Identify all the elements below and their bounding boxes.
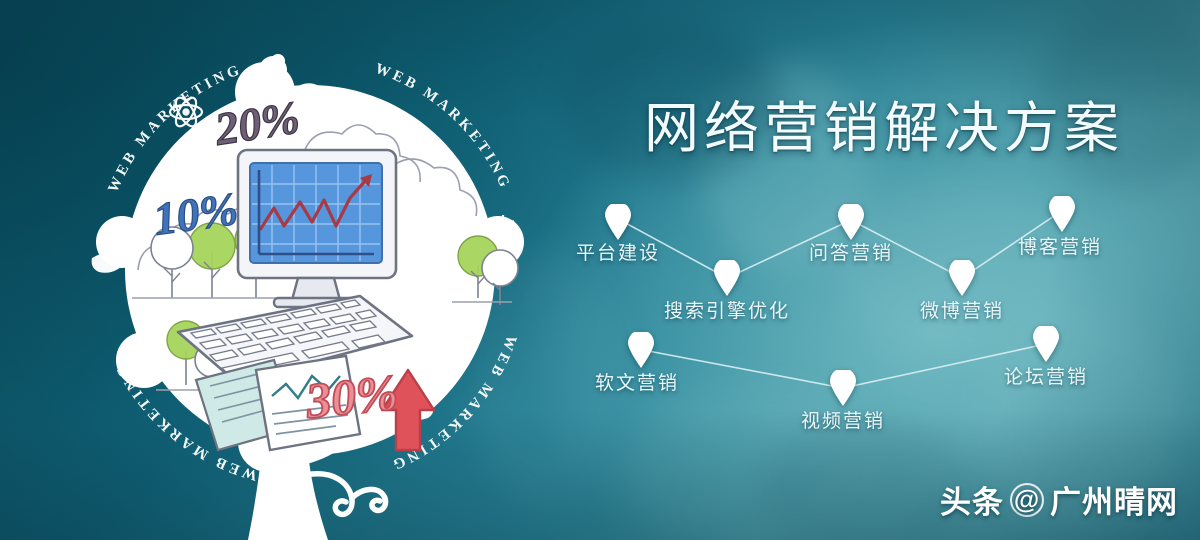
network-connector-lines bbox=[0, 0, 1200, 540]
pin-softtext-marketing-label: 软文营销 bbox=[595, 368, 679, 395]
pin-forum-marketing[interactable] bbox=[1033, 326, 1059, 362]
pin-qa-marketing-label: 问答营销 bbox=[809, 238, 893, 265]
pin-blog-marketing-label: 博客营销 bbox=[1018, 232, 1102, 259]
marketing-channel-network: 平台建设搜索引擎优化问答营销微博营销博客营销软文营销视频营销论坛营销 bbox=[0, 0, 1200, 540]
watermark-brand: 头条 bbox=[940, 477, 1004, 522]
pin-qa-marketing[interactable] bbox=[838, 204, 864, 240]
pin-platform-building-label: 平台建设 bbox=[576, 238, 660, 265]
watermark-at-icon: @ bbox=[1010, 483, 1044, 517]
pin-weibo-marketing[interactable] bbox=[949, 260, 975, 296]
pin-softtext-marketing[interactable] bbox=[628, 332, 654, 368]
watermark-account: 广州晴网 bbox=[1050, 477, 1178, 522]
pin-weibo-marketing-label: 微博营销 bbox=[920, 296, 1004, 323]
pin-platform-building[interactable] bbox=[605, 204, 631, 240]
marketing-banner: WEB MARKETING WEB MARKETING WEB MARKETIN… bbox=[0, 0, 1200, 540]
watermark: 头条 @ 广州晴网 bbox=[940, 477, 1178, 522]
pin-forum-marketing-label: 论坛营销 bbox=[1004, 362, 1088, 389]
pin-blog-marketing[interactable] bbox=[1049, 196, 1075, 232]
pin-seo-label: 搜索引擎优化 bbox=[664, 296, 790, 323]
pin-video-marketing-label: 视频营销 bbox=[801, 406, 885, 433]
pin-seo[interactable] bbox=[714, 260, 740, 296]
pin-video-marketing[interactable] bbox=[830, 370, 856, 406]
